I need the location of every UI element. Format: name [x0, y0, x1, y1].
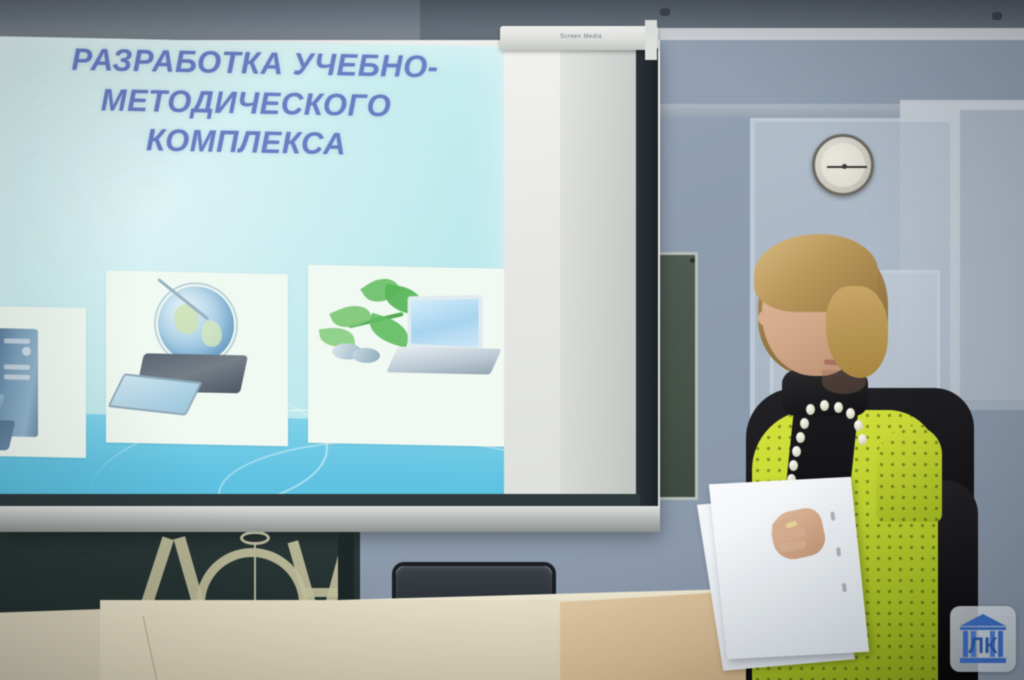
tower-bay — [4, 338, 30, 344]
necklace-bead — [789, 460, 798, 471]
necklace-bead — [806, 404, 815, 415]
projector-screen-shading — [560, 40, 638, 506]
projector-screen-weight-bar — [0, 506, 660, 532]
necklace-bead — [854, 420, 863, 431]
vest-shoulder — [876, 426, 942, 522]
tower-bay — [4, 364, 30, 370]
slide-image-globe-device — [106, 270, 288, 446]
vest-mesh-texture — [876, 426, 942, 522]
ceiling-fixture-icon — [992, 12, 1002, 20]
projector-screen-right-border — [636, 40, 658, 532]
cd-disc-illustration — [352, 348, 380, 364]
screen-mount-bracket — [645, 20, 657, 60]
slide-image-desktop-computer — [0, 305, 86, 458]
necklace-bead — [858, 434, 867, 445]
punch-hole — [842, 583, 847, 592]
table-seam — [143, 616, 318, 680]
classroom-photo-scene: РАЗРАБОТКА УЧЕБНО- МЕТОДИЧЕСКОГО КОМПЛЕК… — [0, 0, 1024, 680]
necklace-bead — [846, 408, 855, 419]
punch-hole — [836, 547, 841, 556]
device-screen-illustration — [107, 373, 202, 415]
necklace-bead — [796, 432, 805, 443]
necklace-bead — [834, 402, 843, 413]
globe-landmass — [202, 320, 222, 346]
projected-slide: РАЗРАБОТКА УЧЕБНО- МЕТОДИЧЕСКОГО КОМПЛЕК… — [0, 36, 504, 523]
set-square-crossbar — [304, 588, 340, 597]
slide-title: РАЗРАБОТКА УЧЕБНО- МЕТОДИЧЕСКОГО КОМПЛЕК… — [0, 38, 504, 168]
svg-text:ЛК: ЛК — [969, 633, 998, 658]
punch-hole — [830, 512, 835, 521]
logo-building-icon: ЛК — [956, 611, 1010, 667]
chalkboard-screw-icon — [690, 258, 695, 263]
laptop-base-illustration — [386, 347, 502, 375]
institution-logo-watermark: ЛК — [950, 606, 1016, 672]
tower-power-button-icon — [22, 347, 31, 356]
projector-screen-case: Screen Media — [500, 26, 658, 50]
hanging-hook-icon — [240, 531, 270, 545]
nose — [758, 310, 774, 326]
globe-illustration — [158, 286, 234, 364]
clock-center-dot — [842, 164, 847, 169]
laptop-screen-illustration — [408, 295, 483, 352]
wall-clock — [812, 134, 874, 196]
paper-documents — [709, 477, 869, 659]
ceiling-fixture-icon — [660, 8, 670, 16]
necklace-bead — [792, 446, 801, 457]
slide-image-plant-laptop — [308, 265, 504, 447]
necklace-bead — [800, 418, 809, 429]
screen-brand-label: Screen Media — [560, 34, 602, 40]
tower-bay — [4, 374, 30, 380]
necklace-bead — [820, 400, 829, 411]
leaf-icon — [366, 313, 413, 348]
